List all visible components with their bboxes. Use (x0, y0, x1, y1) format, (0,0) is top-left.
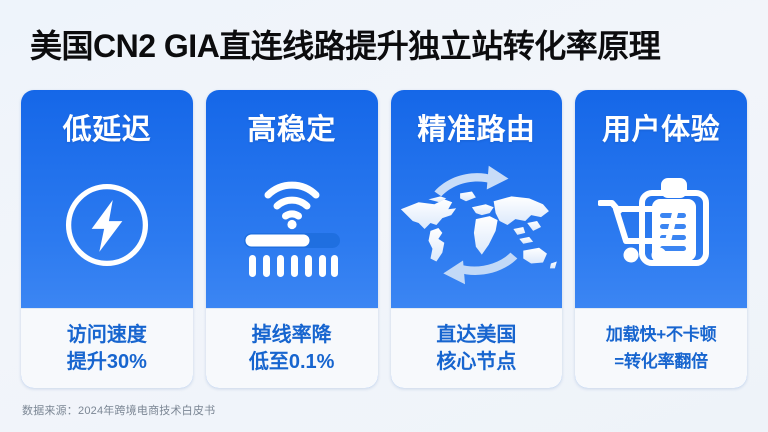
card-footer: 访问速度 提升30% (21, 308, 193, 388)
footer-line-2: =转化率翻倍 (614, 349, 708, 375)
footer-line-1: 掉线率降 (252, 322, 332, 348)
feature-card-precise-routing[interactable]: 精准路由 (391, 90, 563, 388)
card-heading: 高稳定 (247, 113, 336, 147)
icon-container (575, 147, 747, 308)
shopping-cart-clipboard-icon (598, 177, 724, 273)
footer-line-2: 提升30% (67, 349, 147, 375)
card-footer: 加载快+不卡顿 =转化率翻倍 (575, 308, 747, 388)
source-note: 数据来源：2024年跨境电商技术白皮书 (22, 402, 215, 418)
card-heading: 精准路由 (417, 113, 535, 147)
feature-card-high-stability[interactable]: 高稳定 (206, 90, 378, 388)
card-top-section: 精准路由 (391, 90, 563, 308)
card-footer: 掉线率降 低至0.1% (206, 308, 378, 388)
feature-card-low-latency[interactable]: 低延迟 访问速度 提升30% (21, 90, 193, 388)
card-heading: 低延迟 (63, 113, 152, 147)
feature-cards-row: 低延迟 访问速度 提升30% 高稳定 (21, 90, 747, 388)
footer-line-1: 直达美国 (436, 322, 516, 348)
card-top-section: 低延迟 (21, 90, 193, 308)
icon-container (21, 147, 193, 308)
footer-line-2: 核心节点 (436, 349, 516, 375)
feature-card-user-experience[interactable]: 用户体验 (575, 90, 747, 388)
arrow-left-icon (443, 252, 517, 284)
card-top-section: 用户体验 (575, 90, 747, 308)
footer-line-1: 访问速度 (67, 322, 147, 348)
card-top-section: 高稳定 (206, 90, 378, 308)
page-title: 美国CN2 GIA直连线路提升独立站转化率原理 (30, 26, 660, 66)
icon-container (206, 147, 378, 308)
world-map-routing-arrows-icon (391, 163, 563, 287)
card-footer: 直达美国 核心节点 (391, 308, 563, 388)
card-heading: 用户体验 (602, 113, 720, 147)
footer-line-2: 低至0.1% (249, 349, 335, 375)
lightning-bolt-in-circle-icon (59, 177, 155, 273)
icon-container (391, 147, 563, 308)
footer-line-1: 加载快+不卡顿 (606, 322, 717, 348)
wifi-signal-progress-bar-icon (236, 173, 348, 277)
world-map-shape (400, 191, 556, 268)
